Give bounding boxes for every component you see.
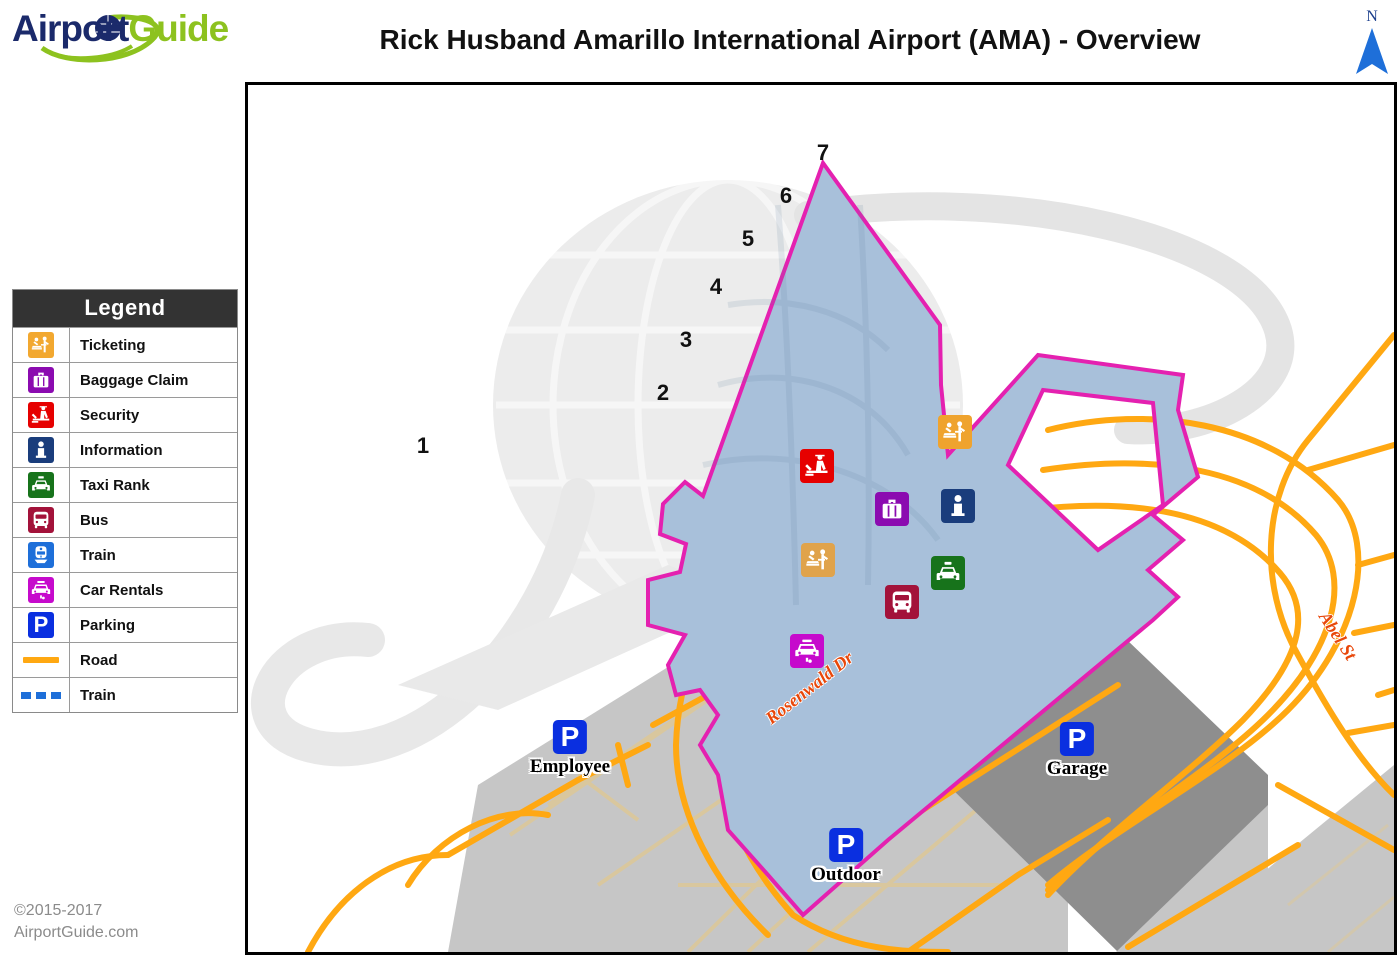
information-icon[interactable]	[941, 489, 975, 523]
logo-text-airport: Airport	[12, 8, 128, 49]
gate-number: 7	[817, 140, 829, 166]
legend-item-information[interactable]: Information	[13, 432, 237, 467]
parking-marker-employee[interactable]: P Employee	[530, 720, 610, 778]
gate-number: 1	[417, 433, 429, 459]
legend-label: Car Rentals	[69, 573, 237, 607]
gate-number: 6	[780, 183, 792, 209]
car-rental-icon	[13, 577, 69, 603]
parking-label: Garage	[1047, 758, 1107, 780]
ticketing-icon[interactable]	[938, 415, 972, 449]
legend-title: Legend	[13, 290, 237, 327]
gate-number: 2	[657, 380, 669, 406]
legend-item-bus[interactable]: Bus	[13, 502, 237, 537]
legend-item-taxi-rank[interactable]: Taxi Rank	[13, 467, 237, 502]
ticketing-icon[interactable]	[801, 543, 835, 577]
legend-label: Security	[69, 398, 237, 432]
parking-marker-outdoor[interactable]: P Outdoor	[811, 828, 881, 886]
legend-item-ticketing[interactable]: Ticketing	[13, 327, 237, 362]
legend-item-car-rentals[interactable]: Car Rentals	[13, 572, 237, 607]
parking-icon: P	[553, 720, 587, 754]
legend-item-train-line[interactable]: Train	[13, 677, 237, 712]
bus-icon	[13, 507, 69, 533]
security-icon[interactable]	[800, 449, 834, 483]
north-arrow: N	[1348, 8, 1396, 84]
road-line-icon	[13, 657, 69, 663]
parking-marker-garage[interactable]: P Garage	[1047, 722, 1107, 780]
map-canvas[interactable]: 1 2 3 4 5 6 7	[245, 82, 1397, 955]
parking-icon: P	[13, 612, 69, 638]
legend-item-train[interactable]: Train	[13, 537, 237, 572]
legend-label: Ticketing	[69, 328, 237, 362]
legend-label: Train	[69, 538, 237, 572]
information-icon	[13, 437, 69, 463]
brand-logo: AirportGuide	[12, 6, 222, 64]
baggage-claim-icon[interactable]	[875, 492, 909, 526]
parking-icon: P	[1060, 722, 1094, 756]
parking-label: Employee	[530, 756, 610, 778]
legend-panel: Legend Ticketing	[12, 289, 238, 713]
legend-label: Baggage Claim	[69, 363, 237, 397]
copyright-line-2: AirportGuide.com	[14, 922, 139, 944]
car-rental-icon[interactable]	[790, 634, 824, 668]
legend-label: Bus	[69, 503, 237, 537]
logo-text-guide: Guide	[128, 8, 228, 49]
legend-item-baggage-claim[interactable]: Baggage Claim	[13, 362, 237, 397]
gate-number: 5	[742, 226, 754, 252]
baggage-claim-icon	[13, 367, 69, 393]
legend-label: Taxi Rank	[69, 468, 237, 502]
train-dashed-line-icon	[13, 692, 69, 699]
page-title: Rick Husband Amarillo International Airp…	[250, 24, 1330, 56]
train-icon	[13, 542, 69, 568]
legend-label: Parking	[69, 608, 237, 642]
legend-item-road[interactable]: Road	[13, 642, 237, 677]
legend-label: Information	[69, 433, 237, 467]
legend-label: Train	[69, 678, 237, 712]
ticketing-icon	[13, 332, 69, 358]
legend-item-security[interactable]: Security	[13, 397, 237, 432]
legend-label: Road	[69, 643, 237, 677]
legend-item-parking[interactable]: P Parking	[13, 607, 237, 642]
gate-number: 3	[680, 327, 692, 353]
copyright-line-1: ©2015-2017	[14, 900, 139, 922]
gate-number: 4	[710, 274, 722, 300]
bus-icon[interactable]	[885, 585, 919, 619]
north-label: N	[1348, 8, 1396, 26]
security-icon	[13, 402, 69, 428]
parking-icon: P	[829, 828, 863, 862]
parking-label: Outdoor	[811, 864, 881, 886]
taxi-icon	[13, 472, 69, 498]
copyright-notice: ©2015-2017 AirportGuide.com	[14, 900, 139, 943]
map-graphics	[248, 85, 1394, 952]
taxi-icon[interactable]	[931, 556, 965, 590]
